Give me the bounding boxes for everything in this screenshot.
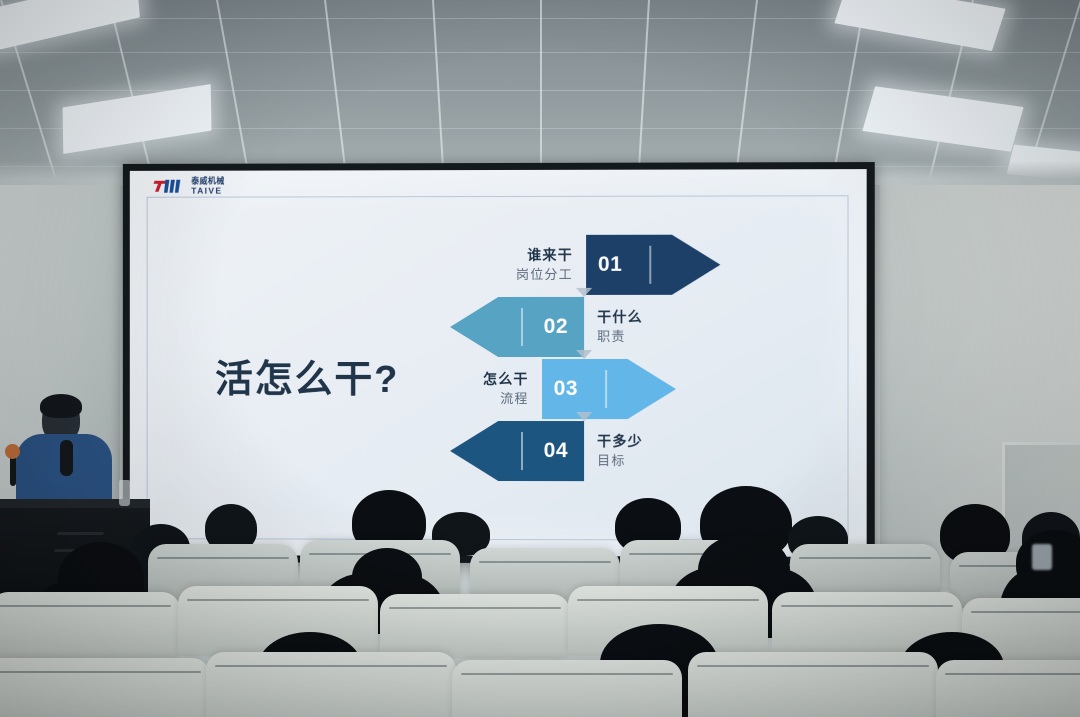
ceiling-rail: [216, 0, 253, 185]
diagram-labels: 怎么干流程: [483, 369, 542, 408]
diagram-label-sub: 目标: [597, 452, 625, 471]
auditorium-seat: [0, 658, 210, 717]
auditorium-seat: [0, 592, 180, 658]
ceiling-rail: [636, 0, 650, 185]
presenter-hair: [40, 394, 82, 418]
diagram-labels: 干什么职责: [584, 307, 643, 346]
slide-title: 活怎么干?: [215, 348, 399, 403]
company-logo: 泰威机械 TAIVE: [154, 177, 225, 196]
diagram-label-main: 干什么: [597, 307, 643, 327]
taive-logo-icon: [154, 177, 187, 194]
diagram-label-sub: 流程: [500, 390, 528, 409]
diagram-label-sub: 岗位分工: [516, 266, 573, 285]
arrow-divider: [605, 370, 607, 408]
arrow-divider: [521, 432, 523, 470]
logo-chinese-text: 泰威机械: [191, 177, 224, 185]
arrow-number: 02: [544, 315, 568, 339]
photo-scene: 泰威机械 TAIVE 活怎么干? 谁来干岗位分工0102干什么职责怎么干流程03…: [0, 0, 1080, 717]
ceiling-light-panel: [862, 86, 1023, 152]
auditorium-seat: [380, 594, 570, 658]
arrow-number: 01: [598, 253, 622, 277]
ceiling-light-panel: [63, 84, 212, 154]
ceiling-rail: [432, 0, 446, 185]
diagram-arrow: 02: [450, 297, 584, 357]
diagram-row: 04干多少目标: [450, 418, 643, 484]
diagram-arrow: 04: [450, 421, 584, 481]
ceiling-grid: [0, 0, 1080, 185]
diagram-arrow: 03: [542, 359, 676, 419]
ceiling-light-panel: [834, 0, 1005, 51]
auditorium-seat: [206, 652, 456, 717]
diagram-label-main: 谁来干: [527, 245, 573, 265]
arrow-number: 04: [544, 439, 568, 463]
auditorium-seat: [936, 660, 1080, 717]
handheld-microphone-icon: [60, 440, 73, 476]
connector-triangle-icon: [576, 288, 592, 297]
auditorium-seat: [452, 660, 682, 717]
auditorium-seat: [688, 652, 938, 717]
arrow-divider: [521, 308, 523, 346]
logo-english-text: TAIVE: [191, 187, 224, 196]
ceiling-rail: [108, 0, 157, 185]
diagram-label-main: 怎么干: [483, 369, 529, 389]
ceiling-cross-rail: [0, 52, 1080, 53]
ceiling-rail: [732, 0, 758, 185]
connector-triangle-icon: [576, 350, 592, 359]
diagram-arrow: 01: [586, 235, 721, 295]
ceiling-rail: [540, 0, 542, 185]
diagram-labels: 干多少目标: [584, 431, 643, 470]
diagram-row: 谁来干岗位分工01: [516, 232, 720, 298]
audience-seating: [0, 482, 1080, 717]
ceiling-rail: [324, 0, 350, 185]
diagram-label-main: 干多少: [597, 432, 643, 452]
arrow-divider: [649, 246, 651, 284]
diagram-labels: 谁来干岗位分工: [516, 245, 586, 284]
microphone-head-icon: [5, 444, 20, 459]
diagram-row: 02干什么职责: [450, 294, 643, 360]
phone-screen-glow: [1032, 544, 1052, 570]
connector-triangle-icon: [576, 412, 592, 421]
arrow-number: 03: [554, 377, 578, 401]
diagram-label-sub: 职责: [597, 328, 625, 347]
